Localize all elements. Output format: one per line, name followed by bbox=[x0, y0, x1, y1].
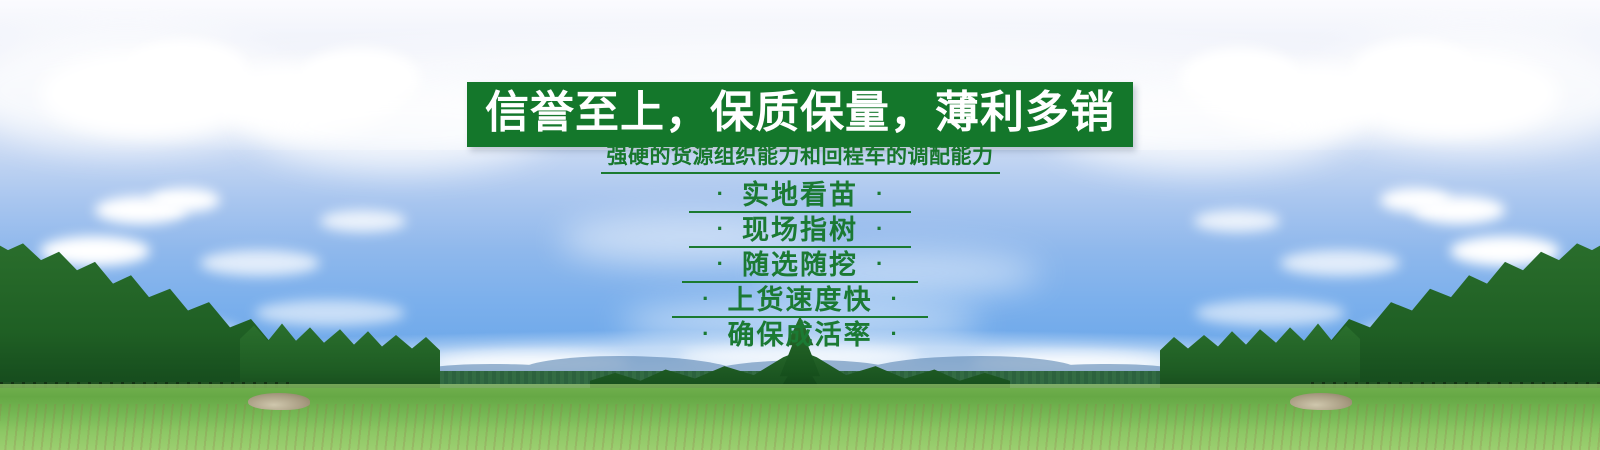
list-item: · 上货速度快 · bbox=[0, 283, 1600, 318]
list-item-label: 实地看苗 bbox=[742, 182, 858, 209]
bullet-dot-icon: · bbox=[891, 323, 898, 345]
bullet-dot-icon: · bbox=[717, 253, 724, 275]
list-item: · 随选随挖 · bbox=[0, 248, 1600, 283]
list-item-label: 随选随挖 bbox=[742, 252, 858, 279]
banner-content: 信誉至上，保质保量，薄利多销 强硬的货源组织能力和回程车的调配能力 · 实地看苗… bbox=[0, 0, 1600, 450]
hero-banner: 信誉至上，保质保量，薄利多销 强硬的货源组织能力和回程车的调配能力 · 实地看苗… bbox=[0, 0, 1600, 450]
subtitle-row: 强硬的货源组织能力和回程车的调配能力 bbox=[0, 145, 1600, 174]
subtitle-text: 强硬的货源组织能力和回程车的调配能力 bbox=[601, 145, 1000, 174]
headline-row: 信誉至上，保质保量，薄利多销 bbox=[0, 82, 1600, 147]
bullet-dot-icon: · bbox=[702, 288, 709, 310]
bullet-dot-icon: · bbox=[876, 218, 883, 240]
bullet-dot-icon: · bbox=[702, 323, 709, 345]
selling-points-list: · 实地看苗 · · 现场指树 · · 随选随挖 · · 上货速度快 · bbox=[0, 178, 1600, 353]
list-item-label: 现场指树 bbox=[742, 217, 858, 244]
list-item-label: 上货速度快 bbox=[728, 287, 873, 314]
bullet-dot-icon: · bbox=[717, 183, 724, 205]
bullet-dot-icon: · bbox=[876, 183, 883, 205]
bullet-dot-icon: · bbox=[876, 253, 883, 275]
list-item-label: 确保成活率 bbox=[728, 322, 873, 349]
list-item: · 实地看苗 · bbox=[0, 178, 1600, 213]
list-item: · 现场指树 · bbox=[0, 213, 1600, 248]
list-item: · 确保成活率 · bbox=[0, 318, 1600, 353]
bullet-dot-icon: · bbox=[717, 218, 724, 240]
bullet-dot-icon: · bbox=[891, 288, 898, 310]
headline-text: 信誉至上，保质保量，薄利多销 bbox=[467, 82, 1133, 147]
